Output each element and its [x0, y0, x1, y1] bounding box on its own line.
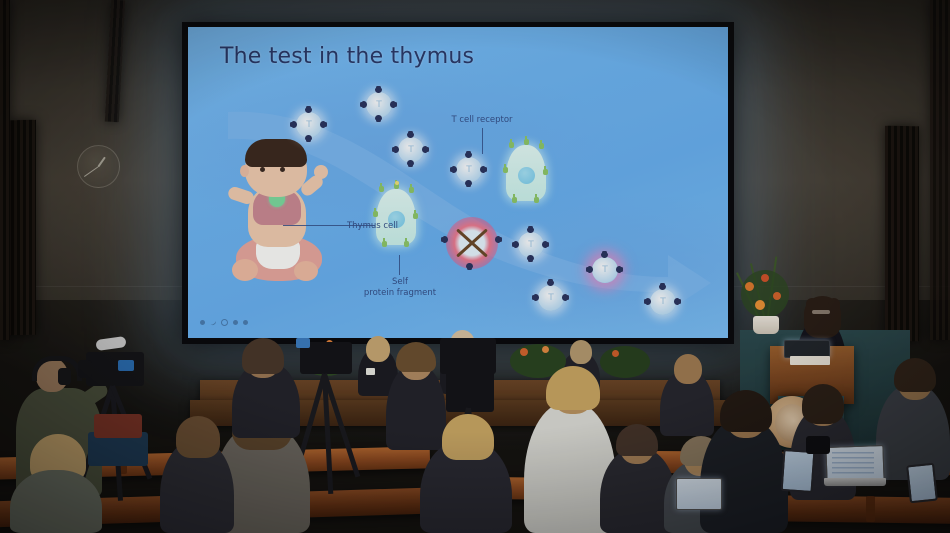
t-cell-receptor-icon	[305, 135, 312, 140]
t-cell-receptor-icon	[390, 101, 395, 108]
destroyed-tcell	[446, 217, 498, 269]
t-cell: T	[366, 92, 392, 118]
t-cell-body: T	[650, 289, 676, 315]
camera-body-lower	[446, 370, 494, 412]
flower	[773, 292, 781, 300]
mhc-molecule	[543, 169, 548, 175]
foliage	[600, 346, 650, 378]
wall-slat-left	[8, 120, 36, 336]
baby-foot-left	[232, 259, 258, 281]
baby-ear	[240, 165, 249, 177]
t-cell-receptor-icon	[375, 115, 382, 120]
podium-papers	[790, 356, 830, 365]
mhc-molecule	[539, 143, 544, 149]
label-self-protein-line1: Self	[360, 277, 440, 288]
panelist-head	[570, 340, 592, 364]
t-cell-labelled: T	[456, 157, 482, 183]
thymus-cell-right	[506, 145, 546, 201]
t-cell: T	[518, 232, 544, 258]
camera-lens	[78, 360, 92, 378]
t-cell-receptor-icon	[616, 266, 621, 273]
label-self-protein-line2: protein fragment	[350, 288, 450, 299]
leader-line-self-protein	[399, 255, 400, 275]
zoom-icon[interactable]	[221, 319, 228, 326]
vase	[753, 316, 779, 334]
flower	[755, 300, 765, 310]
t-cell-receptor-icon	[443, 236, 448, 243]
flower	[612, 350, 619, 357]
t-cell-receptor-icon	[465, 180, 472, 185]
self-peptide	[395, 181, 399, 185]
mhc-molecule	[382, 241, 387, 247]
wall-clock	[77, 145, 120, 188]
slide-title: The test in the thymus	[220, 44, 474, 69]
speaker-glasses	[812, 310, 830, 314]
mhc-molecule	[379, 186, 384, 192]
t-cell: T	[296, 112, 322, 138]
speaker-hair-front	[806, 298, 818, 332]
more-icon[interactable]	[243, 320, 248, 325]
baby-eye-right	[280, 167, 285, 172]
laptop-base[interactable]	[824, 478, 886, 486]
mhc-molecule	[413, 213, 418, 219]
t-cell-receptor-icon	[674, 298, 679, 305]
mhc-molecule	[524, 139, 529, 145]
slides-icon[interactable]	[233, 320, 238, 325]
label-thymus-cell: Thymus cell	[328, 221, 398, 232]
wall-slat-right-2	[930, 0, 950, 340]
flower	[745, 282, 754, 291]
mhc-molecule	[404, 241, 409, 247]
t-cell: T	[650, 289, 676, 315]
flower	[520, 348, 528, 356]
mhc-molecule	[373, 211, 378, 217]
tablet-device[interactable]	[781, 449, 816, 493]
headphones-icon	[32, 356, 82, 381]
stage-flowers-right	[600, 340, 650, 380]
t-cell-receptor-icon	[527, 255, 534, 260]
pen-icon[interactable]	[200, 320, 205, 325]
t-cell-receptor-icon	[407, 160, 414, 165]
mhc-molecule	[503, 167, 508, 173]
baby-foot-right	[294, 261, 318, 281]
clock-hour-hand	[97, 157, 105, 168]
thymus-cell-nucleus	[518, 167, 535, 184]
t-cell-receptor-icon	[562, 294, 567, 301]
tv-camera	[440, 338, 496, 374]
t-cell-receptor-icon	[466, 263, 473, 268]
t-cell-receptor-icon	[320, 121, 325, 128]
pointer-icon[interactable]	[209, 319, 217, 327]
audience-hair	[176, 416, 220, 458]
label-t-cell-receptor: T cell receptor	[432, 115, 532, 126]
laptop-text-lines	[832, 452, 874, 474]
presenter-toolbar[interactable]	[200, 319, 248, 326]
audience-member	[10, 470, 102, 533]
baby-arm-left	[227, 185, 256, 205]
laptop-screen[interactable]	[676, 478, 722, 510]
tv-camera	[86, 352, 144, 386]
t-cell: T	[538, 285, 564, 311]
baby-illustration	[218, 127, 338, 287]
panelist-badge	[366, 368, 375, 375]
t-cell-receptor-icon	[422, 146, 427, 153]
camera-case	[94, 414, 142, 438]
podium-flowers	[735, 252, 795, 336]
leader-line-receptor	[482, 128, 483, 154]
t-cell-body: T	[538, 285, 564, 311]
bench-joint	[866, 496, 875, 522]
panelist-head	[366, 336, 390, 362]
camera-viewfinder	[118, 360, 134, 371]
wall-slat-left-2	[0, 0, 10, 340]
wall-slat-right	[885, 126, 919, 342]
baby-hair	[245, 139, 307, 167]
t-cell-receptor-icon	[480, 166, 485, 173]
mhc-molecule	[534, 197, 539, 203]
audience-head	[674, 354, 702, 384]
auditorium-photo: The test in the thymus	[0, 0, 950, 533]
baby-eye-left	[260, 167, 265, 172]
thymus-cell-left	[376, 189, 416, 245]
speaker-hair-front	[828, 298, 840, 332]
audience-hair	[894, 358, 936, 392]
clock-minute-hand	[84, 166, 99, 177]
photo-camera	[806, 436, 830, 454]
t-cell-pink-halo: T	[592, 257, 618, 283]
audience-hair	[242, 338, 284, 374]
flower	[761, 274, 769, 282]
mhc-molecule	[512, 197, 517, 203]
headphone-cup	[58, 368, 71, 385]
mhc-molecule	[509, 142, 514, 148]
t-cell-receptor-icon	[542, 241, 547, 248]
t-cell-receptor-icon	[495, 236, 500, 243]
camera-viewfinder	[296, 338, 310, 348]
baby-fist	[314, 165, 328, 179]
projection-screen: The test in the thymus	[188, 27, 728, 338]
t-cell-body: T	[592, 257, 618, 283]
audience-hair	[442, 414, 494, 460]
mhc-molecule	[409, 187, 414, 193]
t-cell: T	[398, 137, 424, 163]
tablet-device[interactable]	[906, 463, 938, 504]
audience-hair	[802, 384, 844, 424]
leader-line-thymus	[283, 225, 375, 226]
flower	[542, 346, 549, 353]
